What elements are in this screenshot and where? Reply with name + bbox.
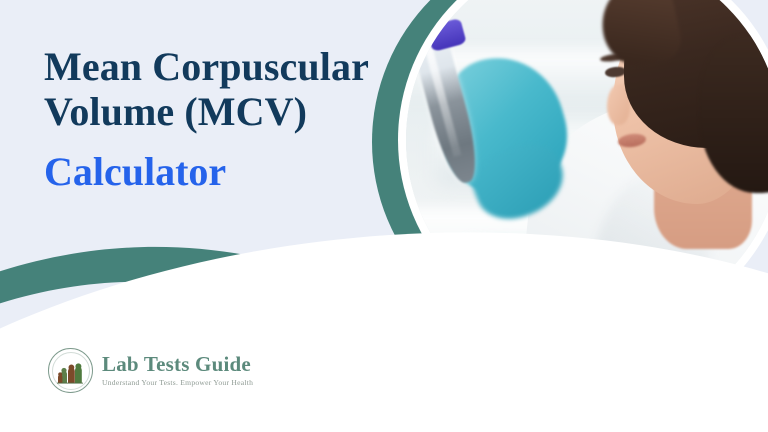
title-line-2: Volume (MCV) bbox=[44, 89, 474, 134]
family-circle-emblem-icon bbox=[48, 348, 93, 393]
title-line-1: Mean Corpuscular bbox=[44, 44, 474, 89]
white-base-sweep bbox=[0, 202, 768, 432]
brand-logo[interactable]: Lab Tests Guide Understand Your Tests. E… bbox=[48, 348, 253, 393]
banner: Mean Corpuscular Volume (MCV) Calculator bbox=[0, 0, 768, 432]
logo-tagline: Understand Your Tests. Empower Your Heal… bbox=[102, 379, 253, 387]
logo-name: Lab Tests Guide bbox=[102, 354, 253, 375]
title-highlight: Calculator bbox=[44, 150, 474, 194]
page-title: Mean Corpuscular Volume (MCV) Calculator bbox=[44, 44, 474, 194]
